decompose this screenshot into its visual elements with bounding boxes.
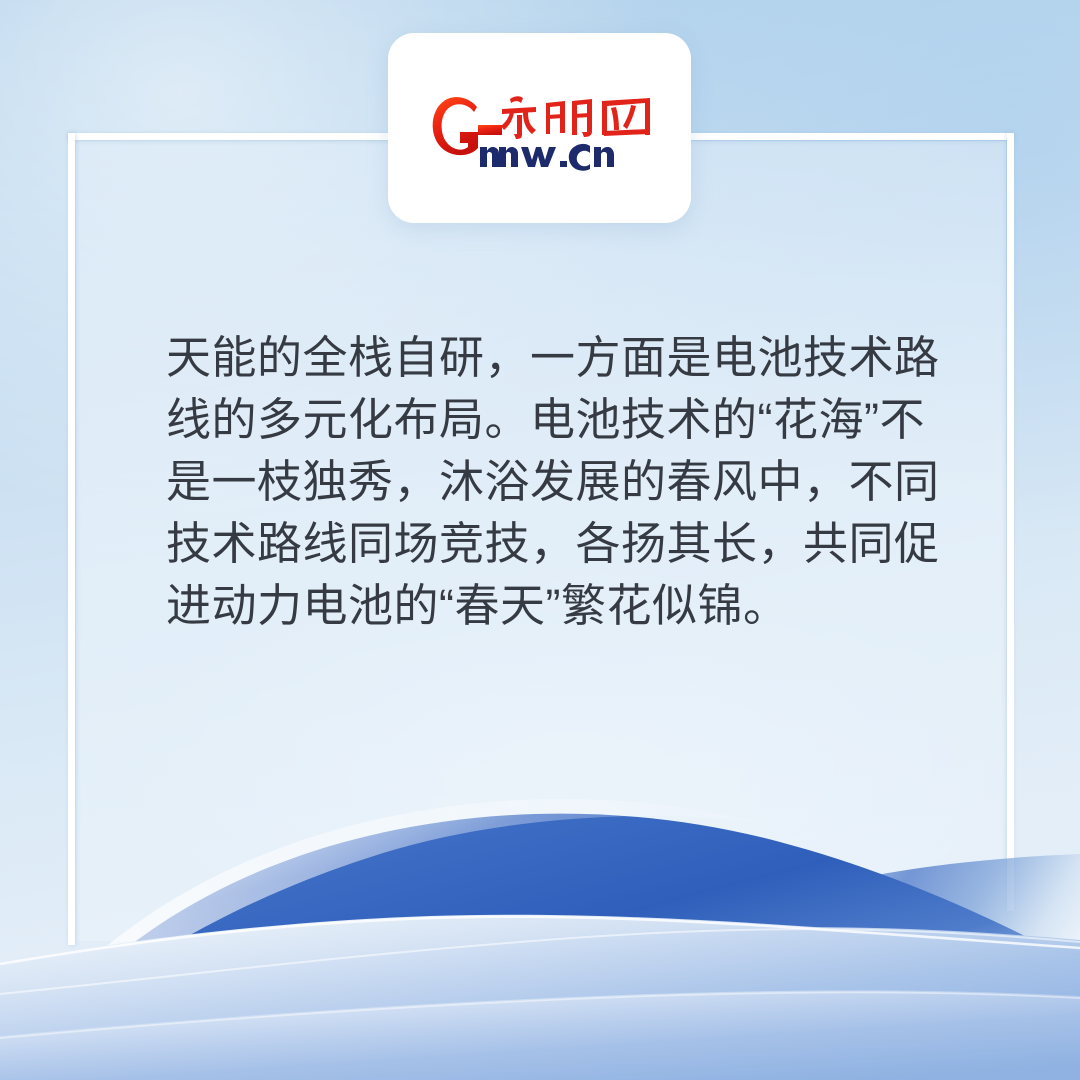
guangming-logo-card[interactable]: 光明网 mw.cn: [388, 33, 691, 223]
guangming-logo-icon: [424, 85, 656, 171]
logo-g-mark: [432, 97, 501, 155]
poster-canvas: 天能的全栈自研，一方面是电池技术路线的多元化布局。电池技术的“花海”不是一枝独秀…: [0, 0, 1080, 1080]
logo-lockup: 光明网 mw.cn: [424, 85, 656, 171]
logo-domain-wordmark: [480, 144, 614, 171]
article-paragraph: 天能的全栈自研，一方面是电池技术路线的多元化布局。电池技术的“花海”不是一枝独秀…: [166, 327, 946, 637]
logo-chinese-characters: [501, 96, 650, 139]
dune-illustration: [0, 750, 1080, 1080]
